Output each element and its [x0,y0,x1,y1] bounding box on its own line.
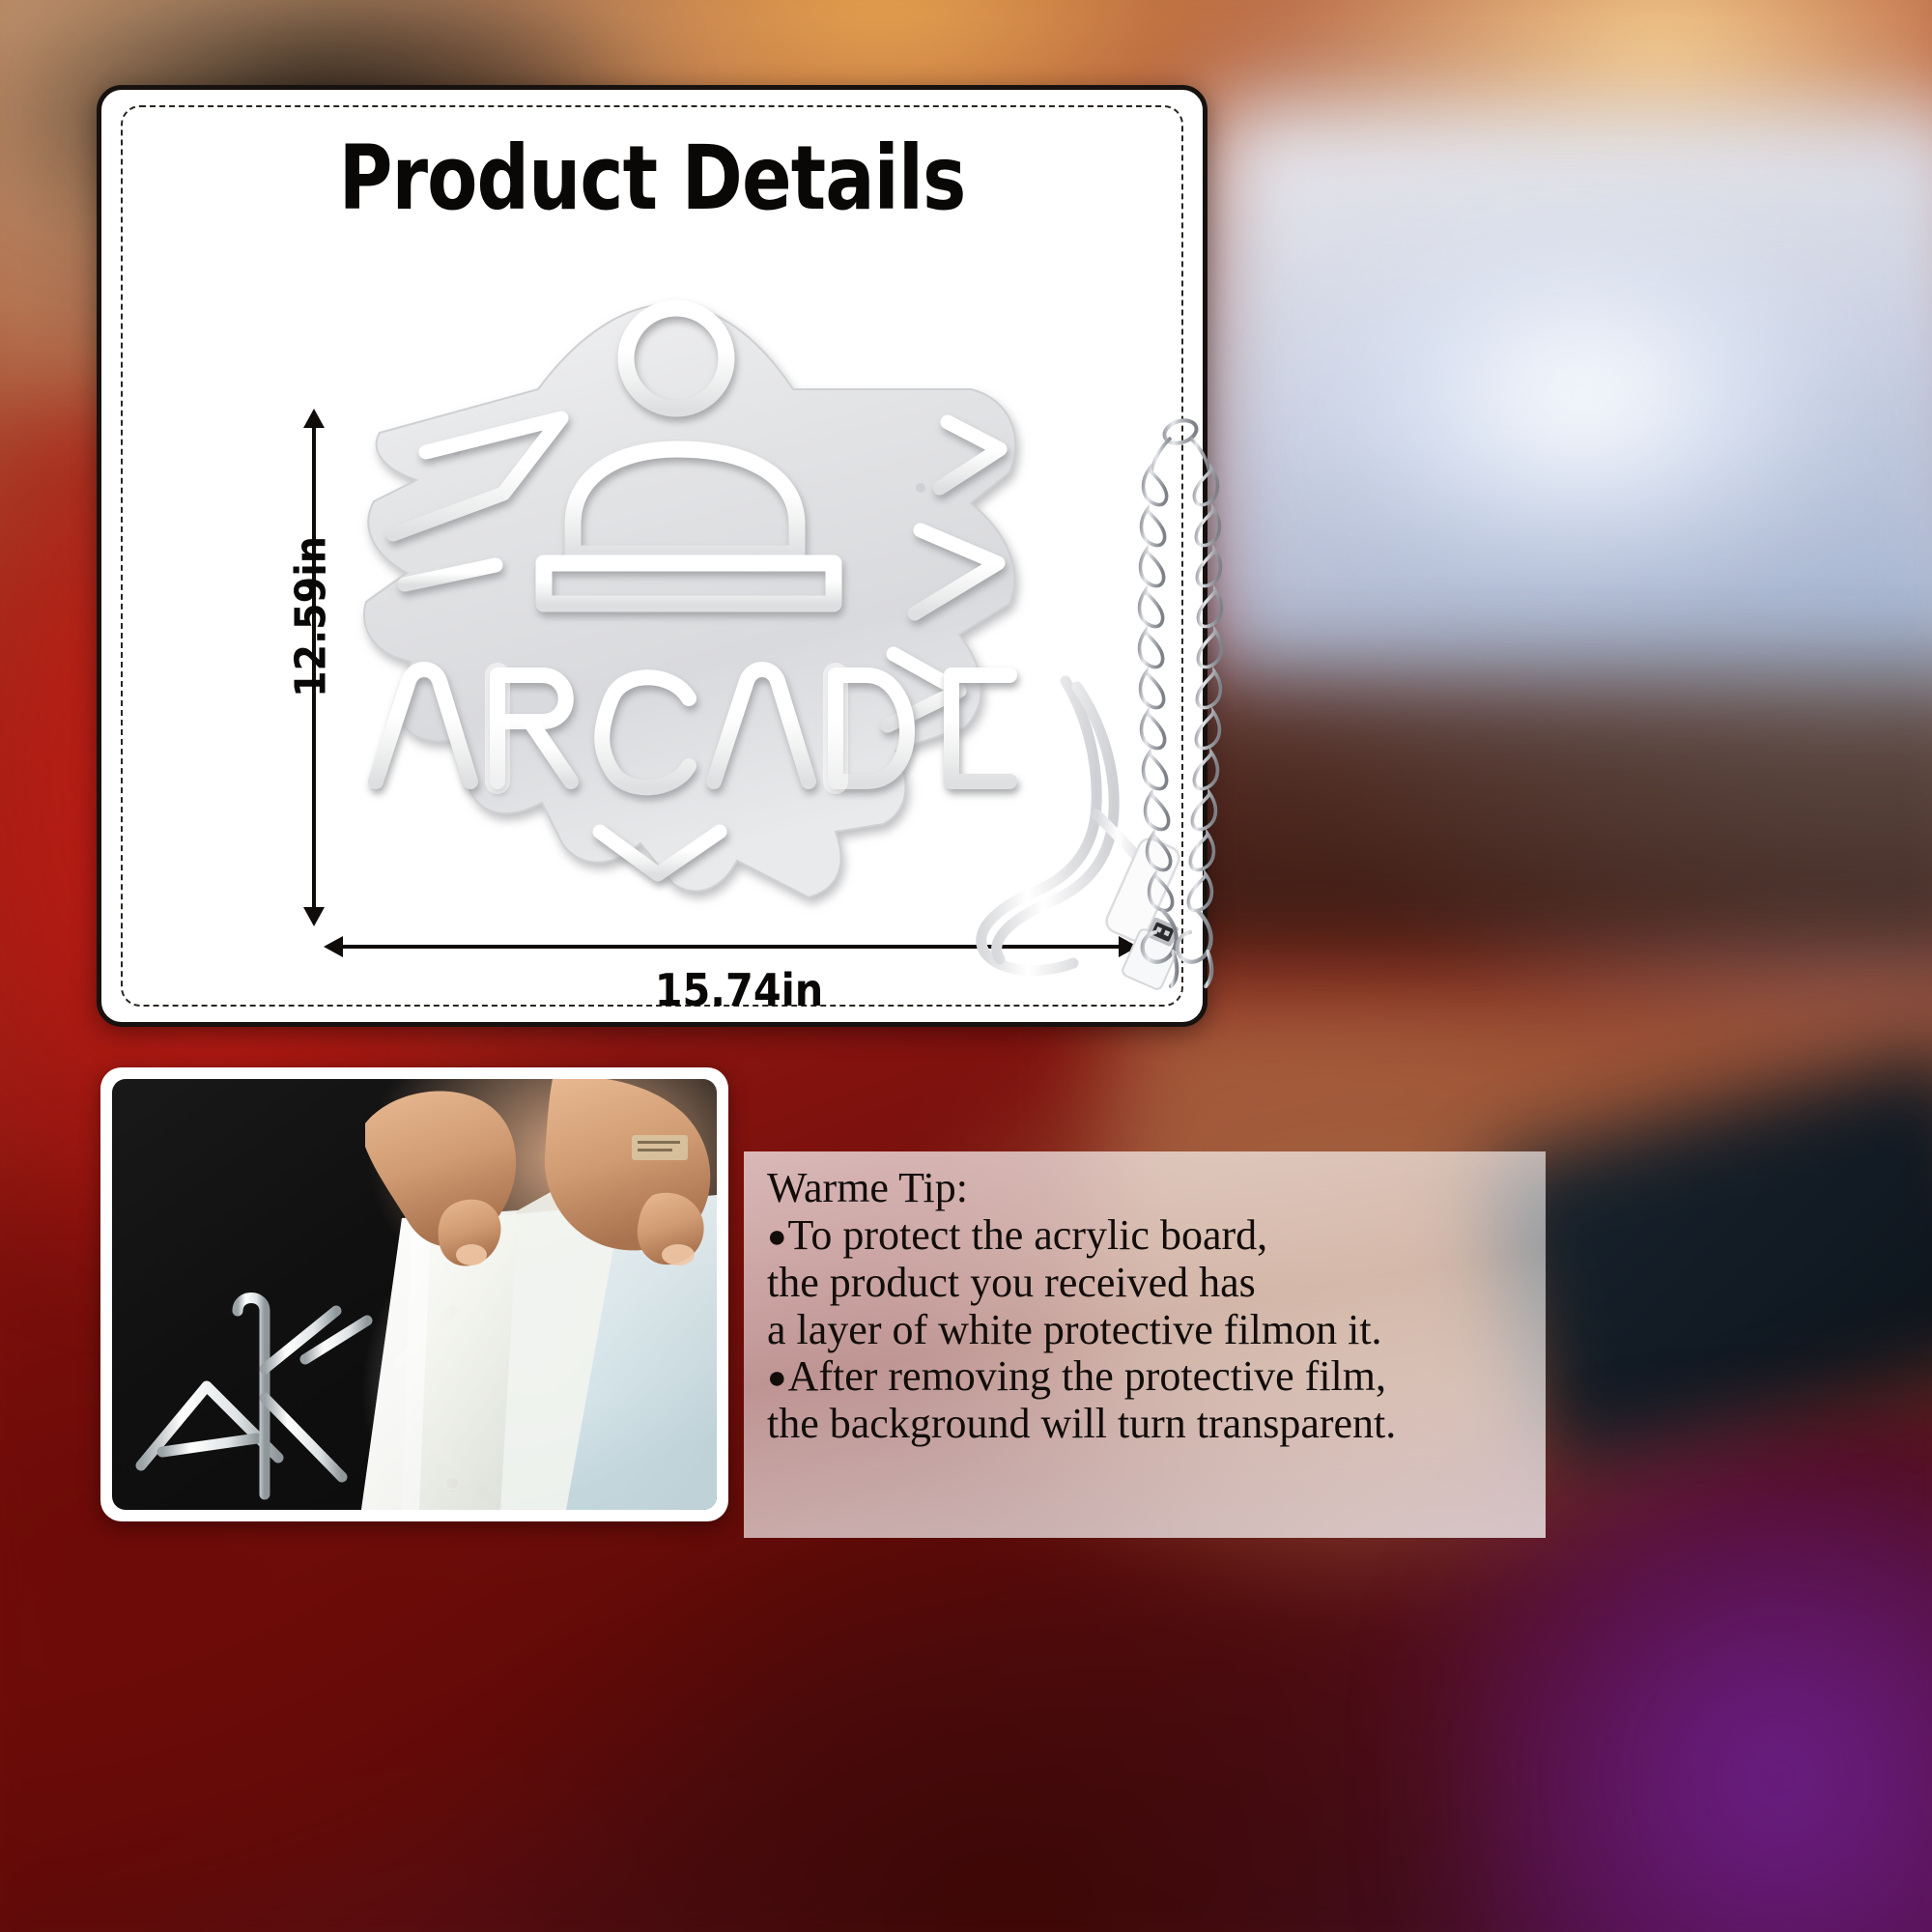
hanging-chain-with-hooks [1121,409,1304,1008]
bullet-icon: ● [767,1360,787,1396]
height-dimension-label: 12.59in [287,535,336,699]
mounting-hole-right [916,483,925,493]
tip-line-text: the background will turn transparent. [767,1400,1396,1447]
tip-heading: Warme Tip: [767,1167,1526,1210]
tip-line: ●After removing the protective film, [767,1353,1526,1401]
background-monitor-glow [1333,222,1835,570]
tip-line-text: To protect the acrylic board, [788,1211,1268,1259]
page-title: Product Details [146,127,1159,230]
tip-line: the product you received has [767,1260,1526,1307]
chain-strand-left [1140,438,1173,911]
tip-line: the background will turn transparent. [767,1401,1526,1448]
chain-strand-right [1188,438,1221,911]
tip-line: a layer of white protective filmon it. [767,1307,1526,1354]
photo-image [112,1079,717,1510]
tip-line: ●To protect the acrylic board, [767,1212,1526,1260]
product-details-card: Product Details [97,85,1207,1027]
height-arrow-bottom [303,907,325,926]
width-dimension-label: 15.74in [555,964,923,1016]
width-arrow-left [324,936,343,957]
tip-line-text: the product you received has [767,1259,1256,1306]
height-arrow-top [303,409,325,428]
peeling-protective-film-photo [100,1067,728,1521]
hand-left [365,1092,516,1266]
tip-line-text: a layer of white protective filmon it. [767,1306,1382,1353]
bullet-icon: ● [767,1219,787,1255]
warm-tip-panel: Warme Tip: ●To protect the acrylic board… [744,1151,1546,1538]
chain-hook-right [1178,911,1212,986]
arcade-neon-sign [333,244,1038,921]
chain-hook-left [1143,911,1178,986]
tip-line-text: After removing the protective film, [788,1352,1386,1400]
